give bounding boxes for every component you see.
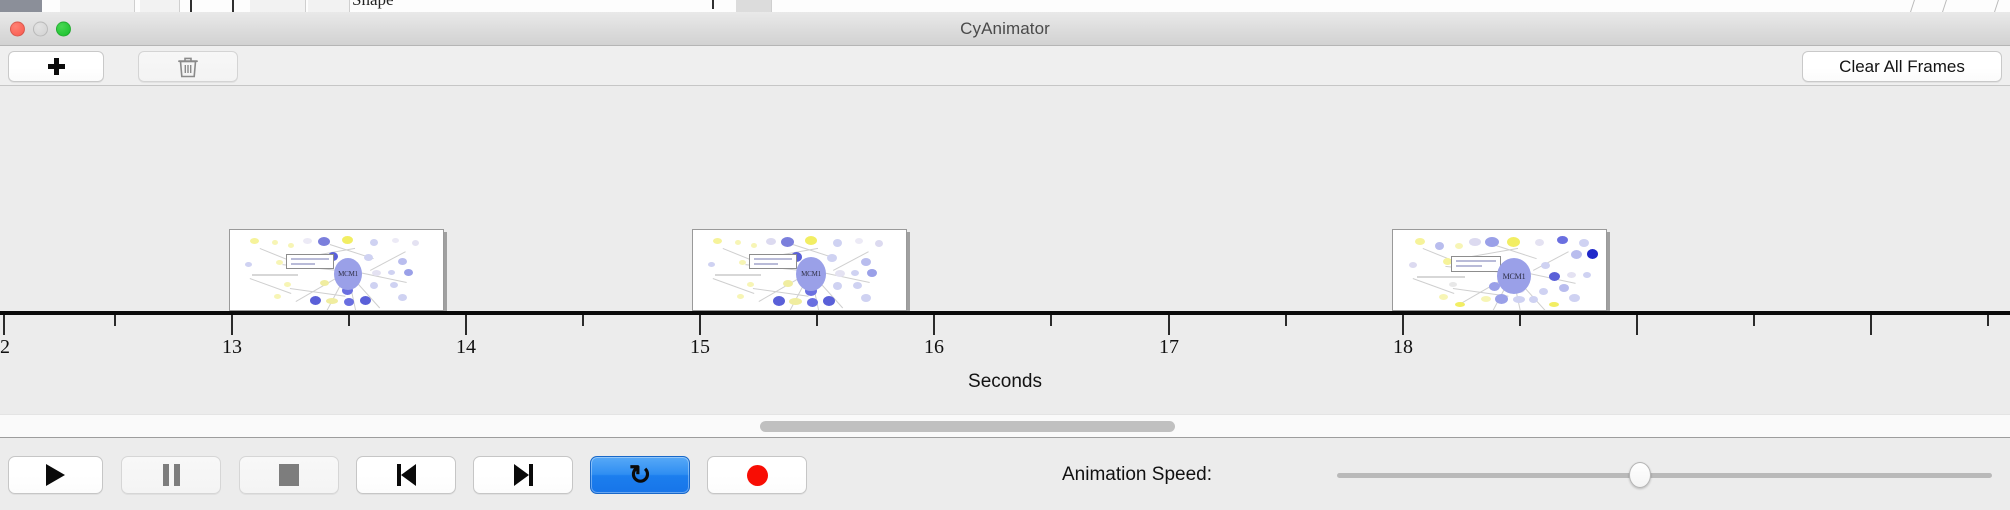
ruler-minor-tick <box>816 315 818 326</box>
window-title: CyAnimator <box>0 19 2010 39</box>
hub-node-label: MCM1 <box>796 257 826 291</box>
background-tab <box>736 0 772 12</box>
title-bar: CyAnimator <box>0 12 2010 46</box>
scrollbar-thumb[interactable] <box>760 421 1175 432</box>
timeline-ruler[interactable]: 2 13 14 15 16 17 18 Seconds <box>0 311 2010 414</box>
ruler-minor-tick <box>114 315 116 326</box>
plus-icon <box>48 58 65 75</box>
loop-icon: ↻ <box>629 462 652 489</box>
background-window-strip: Shape <box>0 0 2010 12</box>
ruler-major-tick <box>1636 315 1638 335</box>
ruler-tick-label: 14 <box>456 336 476 359</box>
ruler-minor-tick <box>1987 315 1989 326</box>
stop-icon <box>279 464 299 486</box>
pause-button[interactable] <box>121 456 221 494</box>
ruler-major-tick <box>1168 315 1170 335</box>
ruler-minor-tick <box>348 315 350 326</box>
clear-all-frames-button[interactable]: Clear All Frames <box>1802 51 2002 82</box>
ruler-major-tick <box>3 315 5 335</box>
background-divider <box>1942 0 1947 12</box>
ruler-baseline <box>0 311 2010 315</box>
hub-node-label: MCM1 <box>1497 258 1531 294</box>
ruler-tick-label: 16 <box>924 336 944 359</box>
keyframe-thumbnail[interactable]: MCM1 <box>1392 229 1607 311</box>
keyframe-thumbnail[interactable]: MCM1 <box>229 229 444 311</box>
pause-icon <box>163 464 180 486</box>
skip-forward-icon <box>514 464 533 486</box>
play-button[interactable] <box>8 456 103 494</box>
hub-node-label: MCM1 <box>334 258 362 290</box>
background-divider <box>1910 0 1915 12</box>
ruler-minor-tick <box>582 315 584 326</box>
background-tick <box>190 0 192 12</box>
ruler-minor-tick <box>1050 315 1052 326</box>
ruler-minor-tick <box>1753 315 1755 326</box>
ruler-tick-label: 2 <box>0 336 10 359</box>
background-tick <box>712 0 714 9</box>
play-icon <box>46 464 65 486</box>
background-divider <box>1994 0 1999 12</box>
skip-back-icon <box>397 464 416 486</box>
network-preview: MCM1 <box>693 230 906 310</box>
slider-thumb[interactable] <box>1629 462 1651 488</box>
previous-frame-button[interactable] <box>356 456 456 494</box>
ruler-major-tick <box>933 315 935 335</box>
background-window-dark-block <box>0 0 42 12</box>
timeline-scrollbar[interactable] <box>0 414 2010 438</box>
delete-frame-button[interactable] <box>138 51 238 82</box>
animation-speed-label: Animation Speed: <box>1062 464 1212 486</box>
ruler-tick-label: 13 <box>222 336 242 359</box>
cyanimator-window: Shape CyAnimator Clear All Frames <box>0 0 2010 510</box>
timeline-track[interactable]: MCM1 <box>0 86 2010 311</box>
record-button[interactable] <box>707 456 807 494</box>
stop-button[interactable] <box>239 456 339 494</box>
record-icon <box>747 465 768 486</box>
background-tab <box>308 0 350 12</box>
network-tooltip <box>749 254 797 269</box>
ruler-major-tick <box>1402 315 1404 335</box>
next-frame-button[interactable] <box>473 456 573 494</box>
network-tooltip <box>1451 256 1501 272</box>
loop-button[interactable]: ↻ <box>590 456 690 494</box>
playback-controls: ↻ Animation Speed: <box>0 439 2010 510</box>
slider-track <box>1337 473 1992 478</box>
keyframe-thumbnail[interactable]: MCM1 <box>692 229 907 311</box>
ruler-major-tick <box>1870 315 1872 335</box>
background-tab <box>250 0 306 12</box>
background-window-label: Shape <box>352 0 394 10</box>
ruler-minor-tick <box>1285 315 1287 326</box>
background-tick <box>232 0 234 12</box>
network-preview: MCM1 <box>1393 230 1606 310</box>
ruler-minor-tick <box>1519 315 1521 326</box>
network-preview: MCM1 <box>230 230 443 310</box>
trash-icon <box>178 56 198 78</box>
ruler-tick-label: 17 <box>1159 336 1179 359</box>
ruler-major-tick <box>699 315 701 335</box>
ruler-major-tick <box>465 315 467 335</box>
animation-speed-slider[interactable] <box>1337 462 1992 488</box>
ruler-tick-label: 18 <box>1393 336 1413 359</box>
add-frame-button[interactable] <box>8 51 104 82</box>
ruler-tick-label: 15 <box>690 336 710 359</box>
frame-toolbar: Clear All Frames <box>0 46 2010 86</box>
background-tab <box>60 0 135 12</box>
background-tab <box>140 0 180 12</box>
ruler-major-tick <box>231 315 233 335</box>
axis-title: Seconds <box>0 371 2010 393</box>
network-tooltip <box>286 254 334 269</box>
